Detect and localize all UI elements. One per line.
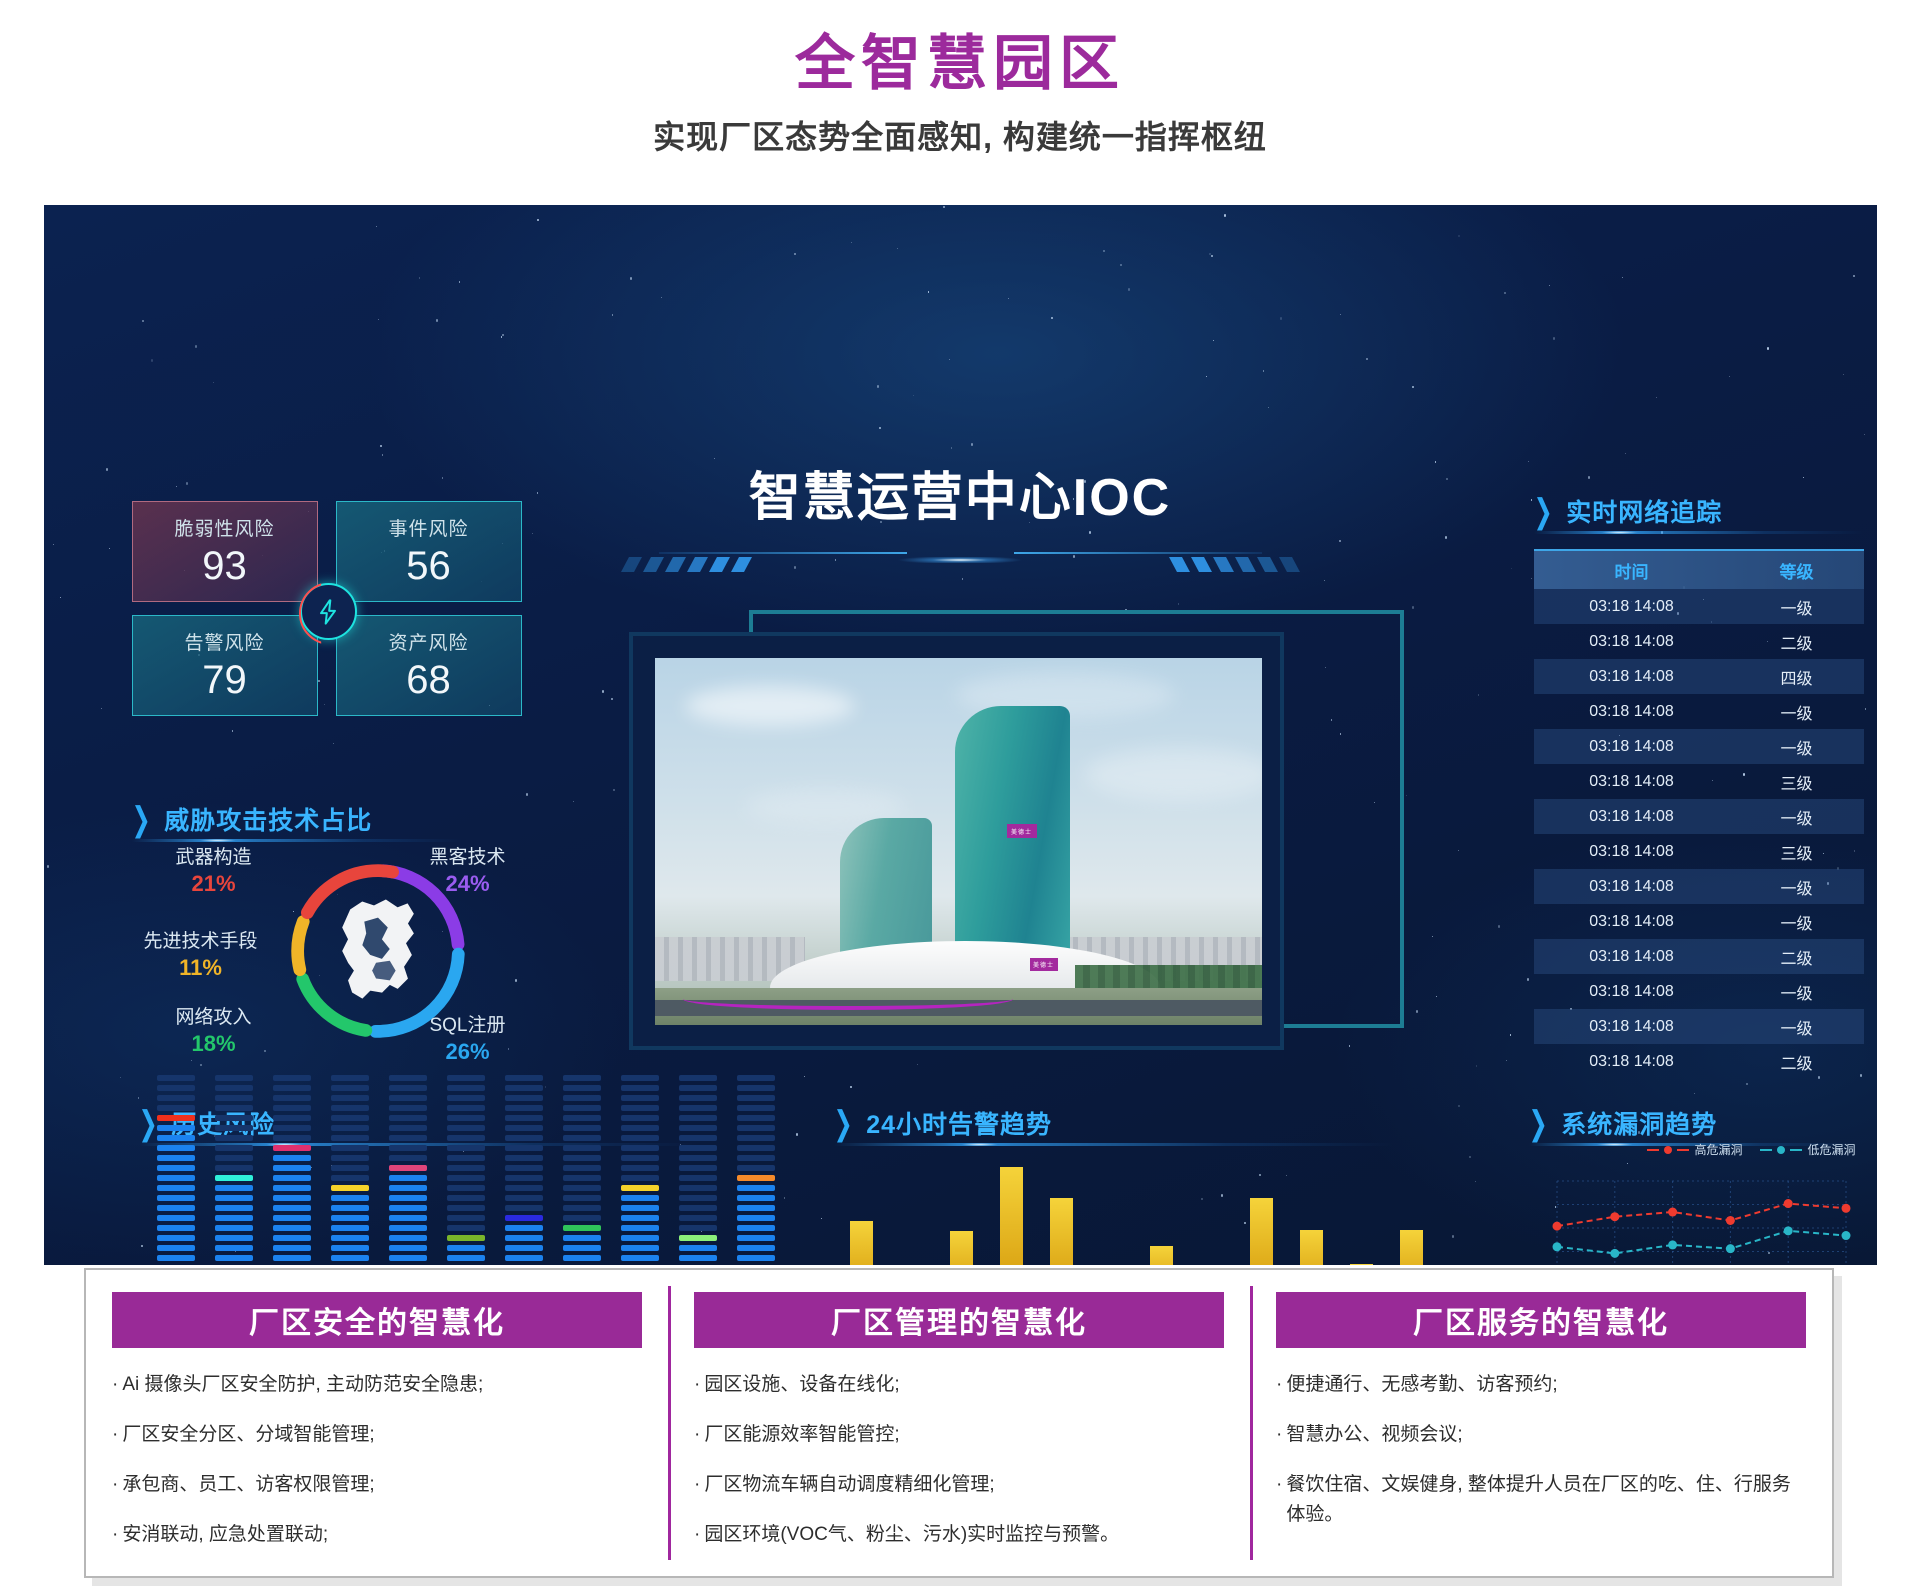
cell-time: 03:18 14:08 (1534, 983, 1730, 1001)
bar[interactable] (1250, 1198, 1273, 1265)
card-bullet-list: ·园区设施、设备在线化;·厂区能源效率智能管控;·厂区物流车辆自动调度精细化管理… (694, 1370, 1224, 1550)
table-row[interactable]: 03:18 14:08一级 (1534, 904, 1864, 939)
list-item: ·智慧办公、视频会议; (1276, 1420, 1806, 1450)
column-header-level: 等级 (1730, 558, 1864, 583)
chevron-right-icon: ❯ (834, 1103, 853, 1142)
donut-label-network: 网络攻入 18% (150, 1005, 278, 1057)
cell-time: 03:18 14:08 (1534, 808, 1730, 826)
kpi-card-incident[interactable]: 事件风险 56 (336, 501, 522, 602)
table-row[interactable]: 03:18 14:08二级 (1534, 624, 1864, 659)
donut-label-advanced: 先进技术手段 11% (126, 929, 276, 981)
bar[interactable] (1300, 1230, 1323, 1265)
kpi-grid: 脆弱性风险 93 事件风险 56 告警风险 79 资产风险 68 (132, 501, 522, 716)
cell-level: 一级 (1730, 805, 1864, 829)
bar[interactable] (1400, 1230, 1423, 1265)
kpi-card-vulnerability[interactable]: 脆弱性风险 93 (132, 501, 318, 602)
kpi-value: 93 (202, 543, 247, 589)
page-title: 全智慧园区 (0, 26, 1920, 102)
card-plant-service: 厂区服务的智慧化 ·便捷通行、无感考勤、访客预约;·智慧办公、视频会议;·餐饮住… (1250, 1270, 1832, 1576)
cell-level: 一级 (1730, 910, 1864, 934)
feature-cards: 厂区安全的智慧化 ·Ai 摄像头厂区安全防护, 主动防范安全隐患;·厂区安全分区… (84, 1268, 1834, 1578)
cell-time: 03:18 14:08 (1534, 738, 1730, 756)
bar[interactable] (950, 1231, 973, 1265)
kpi-label: 脆弱性风险 (174, 514, 274, 541)
building-tower-main: 美德士 (955, 706, 1070, 956)
header-stripe-decoration-right (1014, 550, 1314, 576)
chevron-right-icon: ❯ (139, 1103, 158, 1142)
cell-level: 一级 (1730, 700, 1864, 724)
list-item: ·厂区能源效率智能管控; (694, 1420, 1224, 1450)
cell-time: 03:18 14:08 (1534, 633, 1730, 651)
kpi-label: 告警风险 (184, 628, 264, 655)
building-render: 美德士 美德士 (655, 658, 1262, 1025)
list-item: ·承包商、员工、访客权限管理; (112, 1470, 642, 1500)
cell-level: 二级 (1730, 945, 1864, 969)
chevron-right-icon: ❯ (132, 799, 151, 838)
chevron-right-icon: ❯ (1534, 491, 1553, 530)
table-row[interactable]: 03:18 14:08三级 (1534, 764, 1864, 799)
tracking-table[interactable]: 时间 等级 03:18 14:08一级03:18 14:08二级03:18 14… (1534, 549, 1864, 1079)
bar[interactable] (1050, 1198, 1073, 1265)
cell-level: 三级 (1730, 770, 1864, 794)
donut-label-hacker: 黑客技术 24% (404, 845, 532, 897)
cell-time: 03:18 14:08 (1534, 703, 1730, 721)
kpi-value: 68 (406, 657, 451, 703)
bar[interactable] (1000, 1167, 1023, 1265)
table-row[interactable]: 03:18 14:08一级 (1534, 729, 1864, 764)
card-bullet-list: ·Ai 摄像头厂区安全防护, 主动防范安全隐患;·厂区安全分区、分域智能管理;·… (112, 1370, 642, 1550)
chevron-right-icon: ❯ (1529, 1103, 1548, 1142)
list-item: ·餐饮住宿、文娱健身, 整体提升人员在厂区的吃、住、行服务体验。 (1276, 1470, 1806, 1530)
building-tower-secondary (840, 818, 932, 958)
threat-donut-chart: 武器构造 21% 黑客技术 24% 先进技术手段 11% 网络攻入 18% SQ… (132, 835, 532, 1065)
page-subtitle: 实现厂区态势全面感知, 构建统一指挥枢纽 (0, 116, 1920, 158)
page-header: 全智慧园区 实现厂区态势全面感知, 构建统一指挥枢纽 (0, 0, 1920, 205)
led-bar-column[interactable] (157, 1075, 195, 1265)
table-row[interactable]: 03:18 14:08一级 (1534, 1009, 1864, 1044)
list-item: ·便捷通行、无感考勤、访客预约; (1276, 1370, 1806, 1400)
list-item: ·厂区安全分区、分域智能管理; (112, 1420, 642, 1450)
bar[interactable] (1350, 1264, 1373, 1265)
table-row[interactable]: 03:18 14:08四级 (1534, 659, 1864, 694)
table-row[interactable]: 03:18 14:08一级 (1534, 974, 1864, 1009)
section-title-tracking: ❯ 实时网络追踪 (1534, 493, 1723, 529)
legend-item-high-risk[interactable]: 高危漏洞 (1647, 1141, 1742, 1158)
led-bar-column[interactable] (737, 1075, 775, 1265)
cell-time: 03:18 14:08 (1534, 843, 1730, 861)
led-bar-column[interactable] (621, 1075, 659, 1265)
list-item: ·Ai 摄像头厂区安全防护, 主动防范安全隐患; (112, 1370, 642, 1400)
header-glow-decoration (550, 557, 1370, 563)
led-bar-column[interactable] (679, 1075, 717, 1265)
cell-level: 一级 (1730, 980, 1864, 1004)
header-stripe-decoration-left (607, 550, 907, 576)
bar[interactable] (850, 1221, 873, 1265)
table-row[interactable]: 03:18 14:08二级 (1534, 939, 1864, 974)
alarm-24h-chart: 2时4时6时8时10时12时14时16时18时20时22时24时 (834, 1145, 1464, 1265)
hero-building-image: 美德士 美德士 (629, 610, 1404, 1070)
table-row[interactable]: 03:18 14:08一级 (1534, 869, 1864, 904)
led-bar-column[interactable] (215, 1075, 253, 1265)
table-row[interactable]: 03:18 14:08二级 (1534, 1044, 1864, 1079)
cell-time: 03:18 14:08 (1534, 668, 1730, 686)
cell-level: 二级 (1730, 1050, 1864, 1074)
table-header-row: 时间 等级 (1534, 549, 1864, 589)
kpi-label: 资产风险 (388, 628, 468, 655)
cell-time: 03:18 14:08 (1534, 1053, 1730, 1071)
card-bullet-list: ·便捷通行、无感考勤、访客预约;·智慧办公、视频会议;·餐饮住宿、文娱健身, 整… (1276, 1370, 1806, 1530)
bar[interactable] (1150, 1246, 1173, 1265)
table-row[interactable]: 03:18 14:08一级 (1534, 694, 1864, 729)
kpi-value: 56 (406, 543, 451, 589)
led-bar-column[interactable] (563, 1075, 601, 1265)
donut-label-sql: SQL注册 26% (404, 1013, 532, 1065)
led-bar-column[interactable] (447, 1075, 485, 1265)
cell-level: 四级 (1730, 665, 1864, 689)
dashboard-panel: 智慧运营中心IOC 脆弱性风险 93 事件风险 56 告警风险 79 (44, 205, 1877, 1265)
section-title-threat: ❯ 威胁攻击技术占比 (132, 801, 373, 837)
cell-level: 一级 (1730, 735, 1864, 759)
table-row[interactable]: 03:18 14:08一级 (1534, 799, 1864, 834)
led-bar-column[interactable] (273, 1075, 311, 1265)
cell-time: 03:18 14:08 (1534, 878, 1730, 896)
card-title: 厂区服务的智慧化 (1276, 1292, 1806, 1348)
vuln-trend-chart: 高危漏洞 低危漏洞 2013年2014年2015年2016年2017年2018年 (1529, 1145, 1864, 1265)
line-chart-svg (1529, 1171, 1864, 1265)
section-rule (1534, 531, 1864, 534)
card-plant-safety: 厂区安全的智慧化 ·Ai 摄像头厂区安全防护, 主动防范安全隐患;·厂区安全分区… (86, 1270, 668, 1576)
cell-time: 03:18 14:08 (1534, 948, 1730, 966)
table-body: 03:18 14:08一级03:18 14:08二级03:18 14:08四级0… (1534, 589, 1864, 1079)
kpi-card-alarm[interactable]: 告警风险 79 (132, 615, 318, 716)
cell-level: 一级 (1730, 1015, 1864, 1039)
card-title: 厂区管理的智慧化 (694, 1292, 1224, 1348)
cell-level: 二级 (1730, 630, 1864, 654)
list-item: ·园区设施、设备在线化; (694, 1370, 1224, 1400)
column-header-time: 时间 (1534, 558, 1730, 583)
cell-time: 03:18 14:08 (1534, 773, 1730, 791)
podium-sign: 美德士 (1030, 958, 1058, 971)
list-item: ·安消联动, 应急处置联动; (112, 1520, 642, 1550)
kpi-card-asset[interactable]: 资产风险 68 (336, 615, 522, 716)
cell-time: 03:18 14:08 (1534, 913, 1730, 931)
donut-label-weapon: 武器构造 21% (150, 845, 278, 897)
led-bar-column[interactable] (389, 1075, 427, 1265)
led-bar-column[interactable] (505, 1075, 543, 1265)
kpi-value: 79 (202, 657, 247, 703)
cell-level: 三级 (1730, 840, 1864, 864)
card-title: 厂区安全的智慧化 (112, 1292, 642, 1348)
list-item: ·园区环境(VOC气、粉尘、污水)实时监控与预警。 (694, 1520, 1224, 1550)
chart-legend: 高危漏洞 低危漏洞 (1647, 1141, 1855, 1158)
section-title-vuln-trend: ❯ 系统漏洞趋势 (1529, 1105, 1718, 1141)
list-item: ·厂区物流车辆自动调度精细化管理; (694, 1470, 1224, 1500)
cell-level: 一级 (1730, 875, 1864, 899)
table-row[interactable]: 03:18 14:08三级 (1534, 834, 1864, 869)
led-bar-column[interactable] (331, 1075, 369, 1265)
cell-time: 03:18 14:08 (1534, 598, 1730, 616)
card-plant-management: 厂区管理的智慧化 ·园区设施、设备在线化;·厂区能源效率智能管控;·厂区物流车辆… (668, 1270, 1250, 1576)
history-risk-chart: 周五周六周日周一周二周三周四周五周六周日今日 (139, 1145, 779, 1265)
cell-level: 一级 (1730, 595, 1864, 619)
lightning-bolt-icon (300, 583, 357, 640)
kpi-label: 事件风险 (388, 514, 468, 541)
legend-item-low-risk[interactable]: 低危漏洞 (1760, 1141, 1855, 1158)
cell-time: 03:18 14:08 (1534, 1018, 1730, 1036)
building-sign: 美德士 (1007, 824, 1037, 838)
section-title-alarm-24h: ❯ 24小时告警趋势 (834, 1105, 1053, 1141)
table-row[interactable]: 03:18 14:08一级 (1534, 589, 1864, 624)
